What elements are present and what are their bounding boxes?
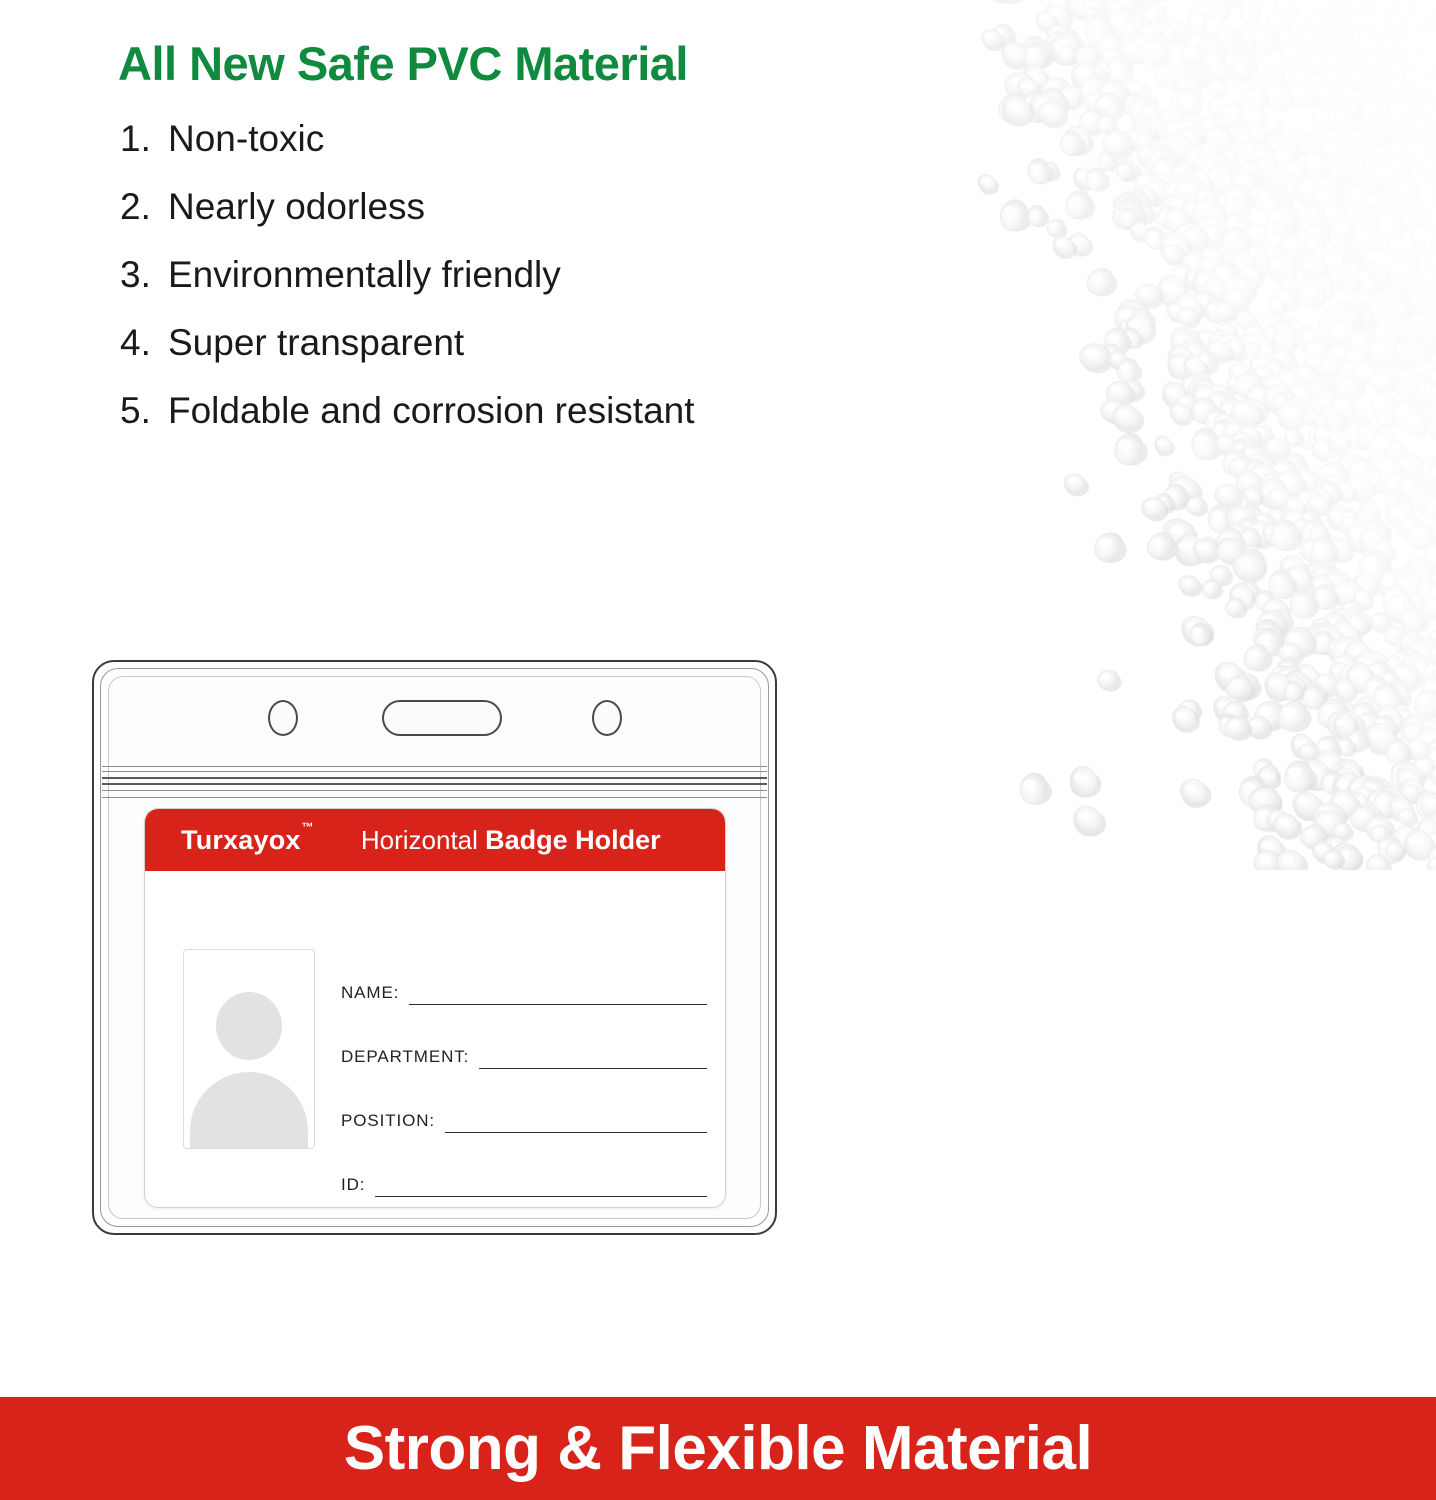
field-write-line	[479, 1067, 707, 1069]
feature-number: 4.	[120, 322, 168, 364]
card-banner-title-bold: Badge Holder	[485, 825, 661, 855]
trademark-symbol: ™	[302, 820, 314, 834]
feature-item: 2. Nearly odorless	[120, 186, 940, 254]
bottom-banner: Strong & Flexible Material	[0, 1397, 1436, 1500]
feature-label: Foldable and corrosion resistant	[168, 390, 695, 432]
feature-number: 3.	[120, 254, 168, 296]
feature-label: Environmentally friendly	[168, 254, 561, 296]
card-banner-title: Horizontal Badge Holder	[361, 825, 661, 856]
card-body: NAME: DEPARTMENT: POSITION: ID:	[145, 871, 725, 1207]
id-card: Turxayox™ Horizontal Badge Holder NAME: …	[144, 808, 726, 1208]
avatar-head-icon	[216, 992, 282, 1060]
field-write-line	[375, 1195, 707, 1197]
feature-item: 5. Foldable and corrosion resistant	[120, 390, 940, 458]
field-row-position: POSITION:	[341, 1069, 707, 1133]
bottom-banner-text: Strong & Flexible Material	[344, 1413, 1092, 1484]
avatar-body-icon	[190, 1072, 308, 1149]
field-label: POSITION:	[341, 1111, 435, 1133]
field-label: DEPARTMENT:	[341, 1047, 469, 1069]
pvc-pellets-image	[976, 0, 1436, 870]
feature-label: Nearly odorless	[168, 186, 425, 228]
field-row-department: DEPARTMENT:	[341, 1005, 707, 1069]
field-label: ID:	[341, 1175, 365, 1197]
feature-list: 1. Non-toxic 2. Nearly odorless 3. Envir…	[120, 118, 940, 458]
field-label: NAME:	[341, 983, 399, 1005]
feature-number: 2.	[120, 186, 168, 228]
card-banner-title-regular: Horizontal	[361, 825, 478, 855]
card-fields: NAME: DEPARTMENT: POSITION: ID:	[341, 941, 707, 1197]
field-row-id: ID:	[341, 1133, 707, 1197]
zip-seal	[102, 764, 767, 802]
hanging-strip	[110, 678, 759, 760]
field-write-line	[409, 1003, 707, 1005]
badge-holder-illustration: Turxayox™ Horizontal Badge Holder NAME: …	[92, 660, 777, 1235]
feature-label: Non-toxic	[168, 118, 324, 160]
feature-number: 1.	[120, 118, 168, 160]
feature-item: 1. Non-toxic	[120, 118, 940, 186]
page-headline: All New Safe PVC Material	[118, 36, 688, 91]
card-banner: Turxayox™ Horizontal Badge Holder	[145, 809, 725, 871]
feature-label: Super transparent	[168, 322, 464, 364]
feature-item: 4. Super transparent	[120, 322, 940, 390]
feature-number: 5.	[120, 390, 168, 432]
brand-text: Turxayox	[181, 825, 301, 855]
punch-hole-right-icon	[592, 700, 622, 736]
photo-placeholder	[183, 949, 315, 1149]
field-write-line	[445, 1131, 707, 1133]
punch-hole-left-icon	[268, 700, 298, 736]
lanyard-slot-icon	[382, 700, 502, 736]
product-infographic: All New Safe PVC Material 1. Non-toxic 2…	[0, 0, 1436, 1500]
feature-item: 3. Environmentally friendly	[120, 254, 940, 322]
field-row-name: NAME:	[341, 941, 707, 1005]
brand-name: Turxayox™	[181, 825, 313, 856]
